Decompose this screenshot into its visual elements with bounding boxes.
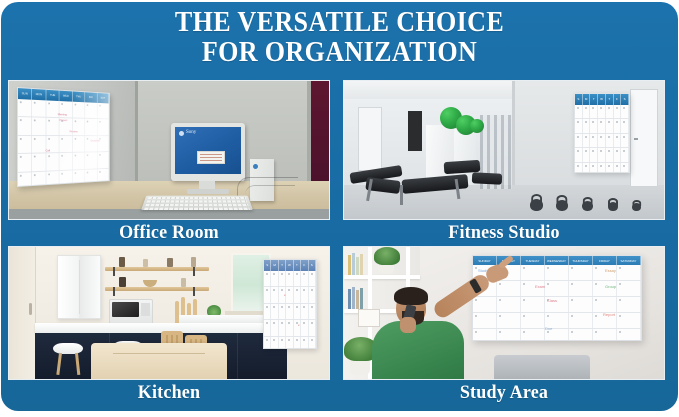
keyboard — [141, 196, 253, 210]
calendar-day-header: F — [614, 94, 622, 105]
feature-grid: SUN MON TUE WED THU FRI SAT — [1, 80, 678, 411]
calendar-grid-office: Meeting Project Review Deadline Call — [18, 99, 109, 186]
poster-root: THE VERSATILE CHOICE FOR ORGANIZATION — [0, 0, 679, 417]
gym-dark-cabinet — [408, 111, 422, 151]
calendar-note: Review — [70, 130, 78, 134]
office-cables-secondary — [245, 185, 295, 208]
exercise-ball — [470, 119, 484, 133]
microwave-door — [112, 302, 139, 317]
calendar-grid-gym — [575, 105, 629, 172]
calendar-note: Class — [547, 299, 557, 303]
calendar-day-header: SUN — [18, 88, 32, 100]
shelf-books — [348, 253, 363, 275]
calendar-day-header: W — [286, 260, 293, 271]
monitor-sticky-note — [197, 151, 225, 164]
calendar-day-header: TUE — [46, 90, 59, 101]
calendar-note: Project — [60, 118, 68, 122]
gym-door-right — [630, 89, 658, 187]
monitor-brand-text: Sony — [186, 130, 196, 135]
calendar-day-header: SATURDAY — [617, 256, 641, 265]
calendar-day-header: FRIDAY — [593, 256, 617, 265]
wall-calendar-kitchen: S M T W T F S — [263, 259, 317, 349]
calendar-day-header: WEDNESDAY — [545, 256, 569, 265]
person-torso — [372, 321, 464, 379]
kettlebell — [556, 200, 568, 211]
shelf-jar — [167, 258, 173, 267]
calendar-note: Report — [603, 313, 615, 317]
calendar-header-gym: S M T W T F S — [575, 94, 629, 105]
calendar-day-header: SAT — [97, 93, 109, 103]
monitor-base — [187, 189, 229, 194]
door-knob-icon — [634, 138, 638, 140]
calendar-day-header: F — [301, 260, 308, 271]
person-hair — [394, 287, 428, 305]
calendar-day-header: M — [271, 260, 278, 271]
calendar-week-row — [575, 163, 629, 173]
calendar-note: Essay — [605, 269, 616, 273]
photo-office-room: SUN MON TUE WED THU FRI SAT — [8, 80, 330, 220]
shelf-jar — [191, 257, 196, 267]
kitchen-upper-cabinet — [57, 255, 101, 319]
calendar-week-row — [575, 105, 629, 119]
shelf-jar — [181, 278, 186, 287]
shelf-plant — [374, 247, 400, 265]
calendar-day-header: WED — [60, 91, 73, 102]
calendar-day-header: T — [590, 94, 598, 105]
photo-study-area: SUNDAY MONDAY TUESDAY WEDNESDAY THURSDAY… — [343, 246, 665, 380]
calendar-day-header: T — [606, 94, 614, 105]
calendar-day-header: S — [621, 94, 629, 105]
page-title: THE VERSATILE CHOICE FOR ORGANIZATION — [1, 8, 678, 67]
calendar-grid-kitchen: x x — [264, 271, 316, 348]
calendar-week-row — [264, 320, 316, 336]
calendar-note: Exam — [535, 285, 545, 289]
calendar-day-header: T — [294, 260, 301, 271]
monitor-brand-logo: Sony — [179, 130, 205, 137]
calendar-day-header: FRI — [85, 92, 97, 103]
calendar-day-header: THU — [73, 91, 86, 102]
calendar-day-header: THURSDAY — [569, 256, 593, 265]
calendar-day-header: S — [309, 260, 316, 271]
cabinet-seam — [237, 324, 238, 380]
calendar-day-header: M — [583, 94, 591, 105]
shelf-bracket — [113, 267, 115, 276]
caption-kitchen: Kitchen — [16, 380, 322, 406]
cell-kitchen[interactable]: S M T W T F S — [8, 246, 330, 406]
laptop — [494, 355, 590, 379]
kettlebell — [632, 203, 641, 211]
calendar-note: Deadline — [91, 139, 100, 143]
monitor-screen: Sony — [175, 127, 241, 174]
calendar-note: Call — [46, 148, 51, 152]
cell-fitness-studio[interactable]: S M T W T F S — [343, 80, 665, 246]
calendar-week-row — [473, 329, 641, 341]
calendar-week-row — [18, 99, 109, 120]
caption-study-area: Study Area — [351, 380, 657, 406]
brand-dot-icon — [179, 131, 184, 136]
office-wall-corner — [135, 81, 138, 193]
calendar-note: x — [298, 323, 300, 327]
calendar-day-header: MON — [32, 89, 46, 100]
photo-fitness-studio: S M T W T F S — [343, 80, 665, 220]
bar-stool — [53, 343, 83, 354]
shelf-bracket — [113, 287, 115, 296]
weight-bench — [472, 172, 503, 185]
calendar-note: Due — [545, 327, 552, 331]
shelf-books — [348, 287, 363, 309]
calendar-note: Group — [605, 285, 616, 289]
caption-office-room: Office Room — [16, 220, 322, 246]
poster-panel: THE VERSATILE CHOICE FOR ORGANIZATION — [1, 2, 678, 411]
calendar-week-row — [264, 287, 316, 303]
dining-table — [91, 343, 227, 379]
calendar-week-row — [575, 119, 629, 133]
person-phone-hand — [400, 317, 416, 333]
kitchen-door — [9, 247, 36, 380]
wall-calendar-office: SUN MON TUE WED THU FRI SAT — [17, 87, 110, 187]
calendar-week-row — [473, 313, 641, 329]
gym-door-left — [358, 107, 382, 171]
calendar-note: Meeting — [58, 112, 67, 116]
calendar-week-row — [264, 304, 316, 320]
calendar-week-row — [575, 148, 629, 162]
calendar-note: x — [284, 293, 286, 297]
shelf-jar — [119, 257, 125, 267]
calendar-day-header: TUESDAY — [521, 256, 545, 265]
gym-wall-corner — [512, 81, 515, 201]
cell-study-area[interactable]: SUNDAY MONDAY TUESDAY WEDNESDAY THURSDAY… — [343, 246, 665, 406]
calendar-day-header: S — [575, 94, 583, 105]
calendar-day-header: S — [264, 260, 271, 271]
calendar-day-header: SUNDAY — [473, 256, 497, 265]
bench-leg — [400, 185, 403, 205]
caption-fitness-studio: Fitness Studio — [351, 220, 657, 246]
microwave — [109, 299, 153, 325]
picture-frame — [358, 309, 380, 327]
kettlebell — [582, 201, 593, 211]
kettlebell — [608, 202, 618, 211]
title-line-1: THE VERSATILE CHOICE — [25, 8, 655, 38]
door-handle-icon — [29, 303, 32, 315]
calendar-week-row — [575, 134, 629, 148]
calendar-week-row — [264, 271, 316, 287]
calendar-day-header: W — [598, 94, 606, 105]
shelf-jar — [143, 259, 148, 267]
calendar-day-header: T — [279, 260, 286, 271]
cell-office-room[interactable]: SUN MON TUE WED THU FRI SAT — [8, 80, 330, 246]
office-desk-front — [9, 209, 330, 219]
wall-calendar-gym: S M T W T F S — [574, 93, 630, 173]
kettlebell — [530, 199, 543, 211]
calendar-week-row — [264, 337, 316, 349]
tower-logo-icon — [253, 164, 258, 169]
computer-monitor: Sony — [171, 123, 245, 181]
shelf-jar — [119, 277, 126, 287]
shelf-bracket — [193, 267, 195, 276]
microwave-keypad — [141, 303, 150, 316]
photo-kitchen: S M T W T F S — [8, 246, 330, 380]
calendar-header-kitchen: S M T W T F S — [264, 260, 316, 271]
title-line-2: FOR ORGANIZATION — [25, 38, 655, 68]
